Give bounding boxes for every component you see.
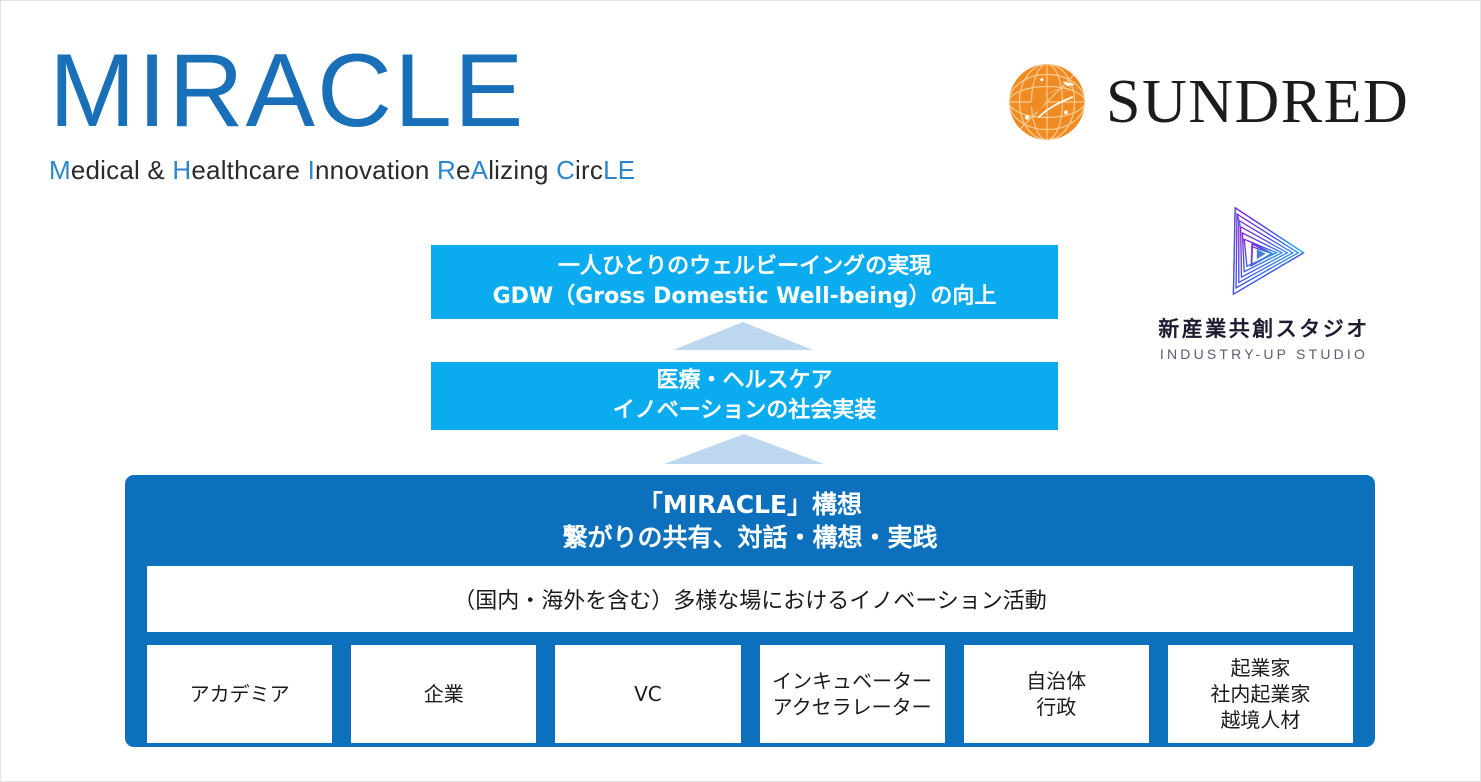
actor-card: 自治体行政 — [964, 645, 1149, 743]
actor-card-line: 企業 — [424, 681, 464, 707]
miracle-subtitle-part-3: ealthcare — [191, 155, 307, 185]
concept-header-line2: 繋がりの共有、対話・構想・実践 — [147, 521, 1353, 554]
arrow-up-icon-top — [673, 322, 813, 350]
implementation-box-line2: イノベーションの社会実装 — [613, 396, 877, 426]
sundred-logo: SUNDRED — [1004, 59, 1409, 145]
sundred-wordmark: SUNDRED — [1106, 71, 1409, 133]
implementation-box-line1: 医療・ヘルスケア — [656, 366, 832, 396]
concept-header: 「MIRACLE」構想 繋がりの共有、対話・構想・実践 — [147, 475, 1353, 554]
arrow-up-icon-bottom — [664, 434, 824, 464]
miracle-subtitle-part-8: A — [471, 155, 489, 185]
actor-card-line: 社内起業家 — [1210, 681, 1310, 707]
actor-card-line: アカデミア — [190, 681, 290, 707]
miracle-subtitle-part-4: I — [308, 155, 315, 185]
miracle-subtitle-part-2: H — [172, 155, 191, 185]
actor-card: インキュベーターアクセラレーター — [760, 645, 945, 743]
slide-canvas: MIRACLE Medical & Healthcare Innovation … — [0, 0, 1481, 782]
miracle-concept-container: 「MIRACLE」構想 繋がりの共有、対話・構想・実践 （国内・海外を含む）多様… — [125, 475, 1375, 747]
actor-card-line: VC — [634, 681, 662, 707]
goal-box-line1: 一人ひとりのウェルビーイングの実現 — [558, 252, 931, 282]
miracle-subtitle-part-0: M — [49, 155, 71, 185]
miracle-subtitle-part-6: R — [437, 155, 456, 185]
actor-card: アカデミア — [147, 645, 332, 743]
actor-card-line: 起業家 — [1230, 655, 1290, 681]
actor-card-line: 自治体 — [1026, 668, 1086, 694]
actor-card-line: 越境人材 — [1220, 707, 1300, 733]
actor-card-line: 行政 — [1036, 694, 1076, 720]
activity-band: （国内・海外を含む）多様な場におけるイノベーション活動 — [147, 566, 1353, 632]
concept-header-line1: 「MIRACLE」構想 — [147, 488, 1353, 521]
industry-up-studio-logo: 新産業共創スタジオ INDUSTRY-UP STUDIO — [1153, 197, 1375, 363]
miracle-subtitle-part-1: edical & — [71, 155, 173, 185]
studio-name-jp: 新産業共創スタジオ — [1153, 317, 1375, 342]
miracle-subtitle-part-9: lizing — [488, 155, 556, 185]
miracle-subtitle: Medical & Healthcare Innovation ReAlizin… — [49, 155, 669, 185]
actor-card-line: インキュベーター — [772, 668, 932, 694]
sundred-globe-icon — [1004, 59, 1090, 145]
actor-row: アカデミア企業VCインキュベーターアクセラレーター自治体行政起業家社内起業家越境… — [147, 645, 1353, 743]
implementation-box: 医療・ヘルスケア イノベーションの社会実装 — [431, 362, 1058, 430]
miracle-subtitle-part-12: LE — [603, 155, 635, 185]
miracle-title: MIRACLE — [49, 39, 669, 143]
miracle-logo: MIRACLE Medical & Healthcare Innovation … — [49, 39, 669, 185]
miracle-subtitle-part-10: C — [556, 155, 575, 185]
actor-card: 起業家社内起業家越境人材 — [1168, 645, 1353, 743]
miracle-subtitle-part-11: irc — [575, 155, 603, 185]
actor-card-line: アクセラレーター — [773, 694, 932, 720]
actor-card: VC — [555, 645, 740, 743]
goal-box-line2: GDW（Gross Domestic Well-being）の向上 — [493, 282, 997, 312]
studio-name-en: INDUSTRY-UP STUDIO — [1153, 346, 1375, 363]
miracle-subtitle-part-5: nnovation — [315, 155, 437, 185]
goal-box: 一人ひとりのウェルビーイングの実現 GDW（Gross Domestic Wel… — [431, 245, 1058, 319]
miracle-subtitle-part-7: e — [456, 155, 471, 185]
actor-card: 企業 — [351, 645, 536, 743]
studio-triangle-icon — [1210, 197, 1318, 305]
